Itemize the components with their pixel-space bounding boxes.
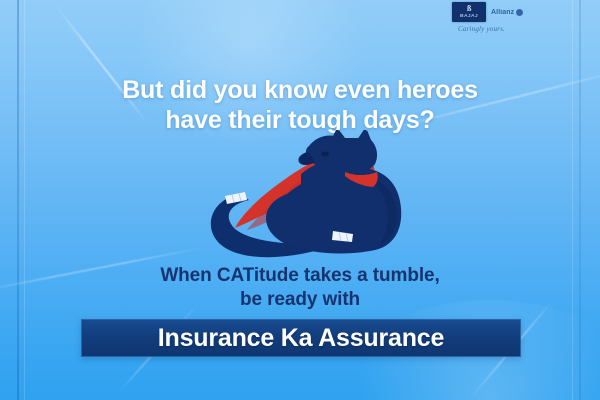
tail-bandage-icon [225, 192, 247, 204]
vertical-pinstripe-right [579, 0, 581, 400]
ad-creative: ß BAJAJ Allianz Caringly yours. But did … [0, 0, 600, 400]
tagline-banner: Insurance Ka Assurance [81, 319, 521, 357]
headline-line-1: But did you know even heroes [122, 76, 478, 104]
subhead: When CATitude takes a tumble, be ready w… [0, 264, 600, 312]
allianz-emblem-icon [516, 9, 523, 16]
allianz-logo: Allianz [491, 9, 523, 16]
cat-ear-left [331, 130, 345, 140]
cat-illustration [205, 130, 410, 265]
brand-logo: ß BAJAJ Allianz Caringly yours. [452, 2, 564, 33]
brand-logo-row: ß BAJAJ Allianz [452, 2, 564, 22]
cat-eye [321, 152, 329, 157]
headline: But did you know even heroes have their … [0, 76, 600, 135]
vertical-pinstripe-right-soft [572, 0, 573, 400]
injured-superhero-cat-icon [205, 130, 410, 265]
tagline-banner-text: Insurance Ka Assurance [158, 324, 444, 353]
brand-tagline: Caringly yours. [458, 25, 564, 33]
subhead-line-2: be ready with [0, 288, 600, 312]
subhead-line-1: When CATitude takes a tumble, [160, 265, 439, 286]
vertical-pinstripe-left [17, 0, 19, 400]
bajaj-mark-word: BAJAJ [460, 14, 478, 19]
bajaj-mark-glyph: ß [467, 5, 471, 13]
vertical-pinstripe-left-soft [24, 0, 25, 400]
allianz-name: Allianz [491, 9, 514, 16]
bajaj-logo-icon: ß BAJAJ [452, 2, 486, 22]
